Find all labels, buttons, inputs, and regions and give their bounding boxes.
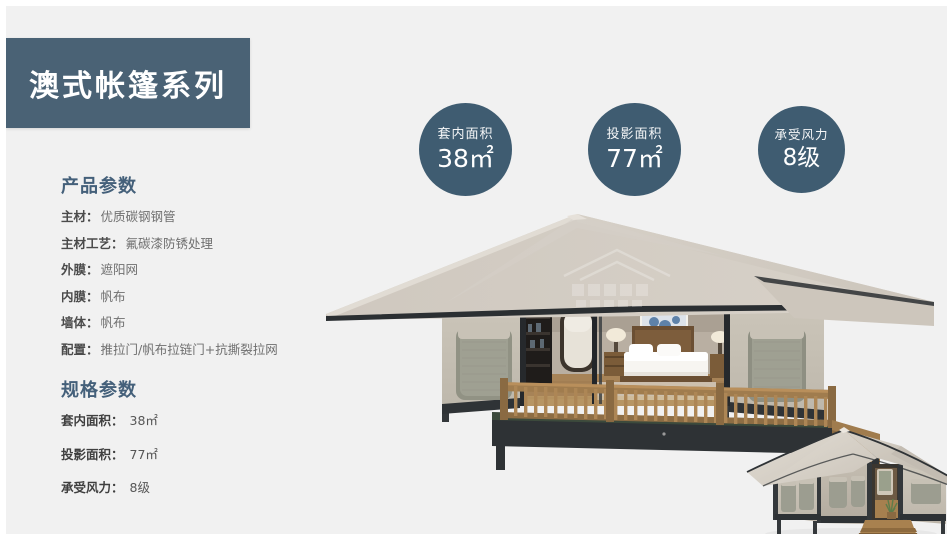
stat-circle-wind-resistance: 承受风力 8级 <box>758 106 845 193</box>
spec-row: 投影面积：77㎡ <box>61 449 361 462</box>
page-title: 澳式帐篷系列 <box>29 61 227 105</box>
spec-params-heading: 规格参数 <box>61 376 361 402</box>
param-label: 配置： <box>61 342 99 357</box>
spec-label: 承受风力： <box>61 480 124 495</box>
stat-value: 38㎡ <box>437 146 494 171</box>
param-value: 优质碳钢钢管 <box>99 209 176 224</box>
spec-row: 承受风力：8级 <box>61 482 361 495</box>
param-row: 内膜：帆布 <box>61 291 361 304</box>
param-value: 氟碳漆防锈处理 <box>124 236 214 251</box>
param-row: 配置：推拉门/帆布拉链门+抗撕裂拉网 <box>61 344 361 357</box>
param-value: 帆布 <box>99 289 126 304</box>
param-label: 墙体： <box>61 315 99 330</box>
stat-value: 8级 <box>783 147 821 170</box>
stat-circle-projected-area: 投影面积 77㎡ <box>588 103 681 196</box>
param-label: 主材： <box>61 209 99 224</box>
param-label: 外膜： <box>61 262 99 277</box>
stat-label: 承受风力 <box>774 129 828 142</box>
slide-canvas: 澳式帐篷系列 产品参数 主材：优质碳钢钢管 主材工艺：氟碳漆防锈处理 外膜：遮阳… <box>0 0 950 534</box>
small-tent-image <box>741 424 950 534</box>
stat-label: 套内面积 <box>437 128 493 141</box>
param-value: 帆布 <box>99 315 126 330</box>
param-row: 墙体：帆布 <box>61 317 361 330</box>
param-row: 主材工艺：氟碳漆防锈处理 <box>61 238 361 251</box>
stat-label: 投影面积 <box>606 128 662 141</box>
spec-row: 套内面积：38㎡ <box>61 415 361 428</box>
param-row: 主材：优质碳钢钢管 <box>61 211 361 224</box>
param-label: 主材工艺： <box>61 236 124 251</box>
param-label: 内膜： <box>61 289 99 304</box>
spec-value: 77㎡ <box>124 447 158 462</box>
param-value: 推拉门/帆布拉链门+抗撕裂拉网 <box>99 342 278 357</box>
spec-params-block: 规格参数 套内面积：38㎡ 投影面积：77㎡ 承受风力：8级 <box>61 376 361 516</box>
param-row: 外膜：遮阳网 <box>61 264 361 277</box>
product-params-block: 产品参数 主材：优质碳钢钢管 主材工艺：氟碳漆防锈处理 外膜：遮阳网 内膜：帆布… <box>61 172 361 370</box>
title-banner: 澳式帐篷系列 <box>6 38 250 128</box>
spec-label: 投影面积： <box>61 447 124 462</box>
spec-value: 8级 <box>124 480 150 495</box>
spec-value: 38㎡ <box>124 413 158 428</box>
stat-value: 77㎡ <box>606 146 663 171</box>
product-params-heading: 产品参数 <box>61 172 361 198</box>
param-value: 遮阳网 <box>99 262 139 277</box>
stat-circle-interior-area: 套内面积 38㎡ <box>419 103 512 196</box>
spec-label: 套内面积： <box>61 413 124 428</box>
